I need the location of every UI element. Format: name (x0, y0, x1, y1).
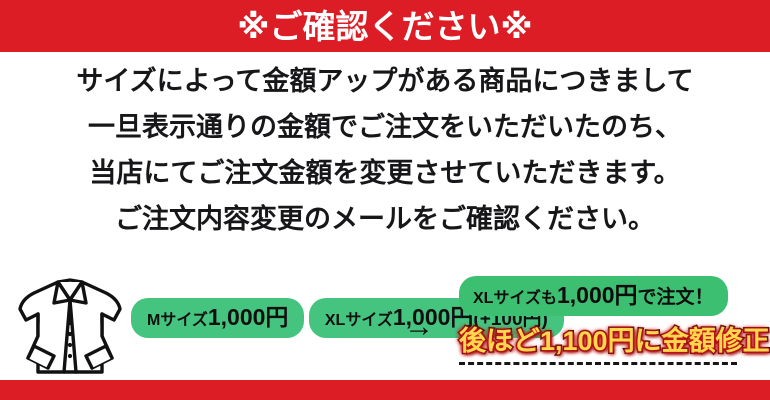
price-pill-order-note: XLサイズも1,000円で注文！ (459, 276, 728, 316)
order-size-label: XLサイズ (473, 290, 541, 307)
order-amount: 1,000円 (557, 282, 638, 308)
order-also-label: も (541, 290, 557, 307)
body-text-block: サイズによって金額アップがある商品につきまして 一旦表示通りの金額でご注文をいた… (0, 58, 770, 242)
after-price-group: XLサイズも1,000円で注文！ 後ほど1,100円に金額修正 (459, 276, 759, 365)
right-arrow-icon: → (404, 312, 434, 342)
footer-bar (0, 380, 770, 400)
price-fix-note: 後ほど1,100円に金額修正 (459, 328, 759, 355)
body-line-2: 一旦表示通りの金額でご注文をいただいたのち、 (0, 104, 770, 150)
promo-banner: ※ご確認ください※ サイズによって金額アップがある商品につきまして 一旦表示通り… (0, 0, 770, 400)
dashed-underline (459, 362, 737, 365)
body-line-4: ご注文内容変更のメールをご確認ください。 (0, 196, 770, 242)
body-line-1: サイズによって金額アップがある商品につきまして (0, 58, 770, 104)
dress-shirt-icon (14, 276, 126, 380)
header-title: ※ご確認ください※ (237, 10, 532, 43)
header-bar: ※ご確認ください※ (0, 0, 770, 52)
m-size-amount: 1,000円 (208, 304, 289, 330)
xl-size-label: XLサイズ (325, 312, 393, 329)
body-line-3: 当店にてご注文金額を変更させていただきます。 (0, 150, 770, 196)
m-size-label: Mサイズ (147, 312, 208, 329)
price-comparison-row: Mサイズ1,000円 XLサイズ1,000円(+100円) → XLサイズも1,… (0, 272, 770, 380)
price-pill-m-size: Mサイズ1,000円 (131, 298, 304, 338)
order-tail-label: で注文！ (638, 287, 714, 308)
